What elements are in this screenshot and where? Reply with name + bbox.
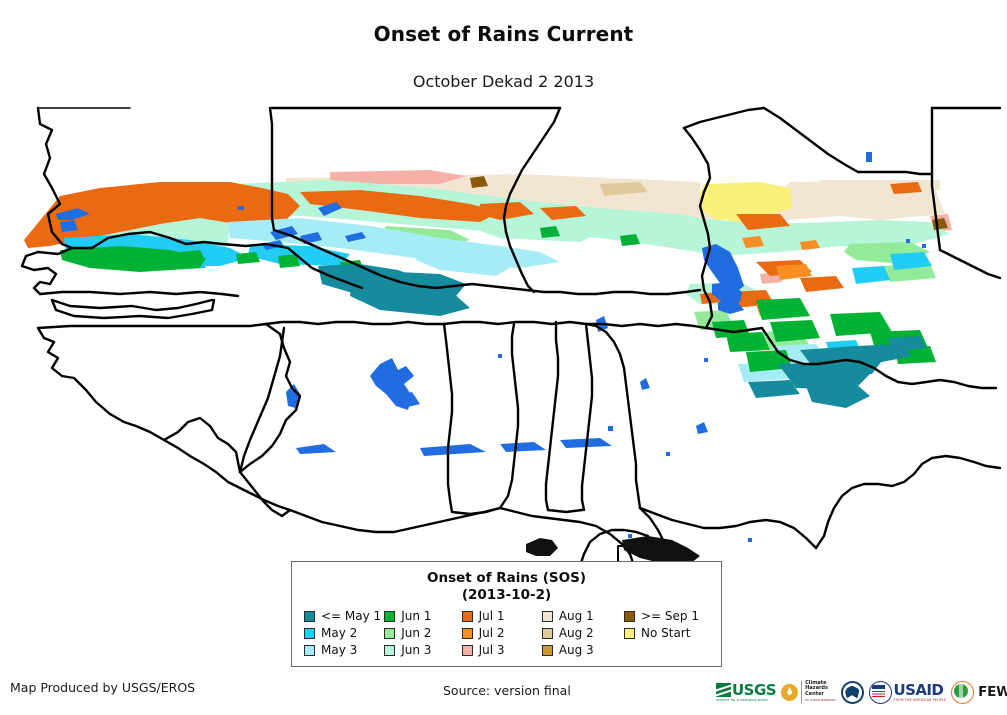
legend-date: (2013-10-2) [302,587,711,604]
noaa-seal-icon [841,681,864,704]
legend-title: Onset of Rains (SOS) [302,570,711,587]
legend-swatch-may2 [304,628,315,639]
legend-item-jun1[interactable]: Jun 1 [384,609,461,624]
legend-item-aug2[interactable]: Aug 2 [542,626,624,641]
legend-item-may3[interactable]: May 3 [304,643,384,658]
usgs-tagline: science for a changing world [716,698,768,702]
legend-item-aug1[interactable]: Aug 1 [542,609,624,624]
legend-swatch-sep1 [624,611,635,622]
legend-label-aug1: Aug 1 [559,610,594,623]
legend-swatch-jul1 [462,611,473,622]
usaid-seal-icon [869,681,892,704]
legend-label-sep1: >= Sep 1 [641,610,699,623]
legend-label-jun2: Jun 2 [401,627,431,640]
legend-label-jul1: Jul 1 [479,610,505,623]
usaid-logo-text: USAID [894,683,947,698]
legend-swatch-aug2 [542,628,553,639]
map-svg [0,96,1007,566]
legend-label-may1: <= May 1 [321,610,381,623]
map-legend: Onset of Rains (SOS) (2013-10-2) <= May … [291,561,722,667]
legend-item-aug3[interactable]: Aug 3 [542,643,624,658]
water-drop-icon [781,684,798,701]
legend-swatch-jun3 [384,645,395,656]
legend-swatch-no-start [624,628,635,639]
legend-label-no-start: No Start [641,627,690,640]
legend-items: <= May 1 May 2 May 3 Jun 1 Ju [302,609,711,658]
legend-column-5: >= Sep 1 No Start [624,609,711,658]
legend-swatch-jun1 [384,611,395,622]
legend-column-1: <= May 1 May 2 May 3 [304,609,384,658]
legend-label-may2: May 2 [321,627,357,640]
usaid-logo: USAID FROM THE AMERICAN PEOPLE [869,681,947,704]
legend-column-4: Aug 1 Aug 2 Aug 3 [542,609,624,658]
chc-logo: Climate Hazards Center UC SANTA BARBARA [781,681,835,703]
legend-item-may2[interactable]: May 2 [304,626,384,641]
fewsnet-logo-text: FEWS NET [978,684,1007,700]
usaid-tagline: FROM THE AMERICAN PEOPLE [894,698,947,702]
usgs-mark-icon [716,683,731,697]
legend-item-jun3[interactable]: Jun 3 [384,643,461,658]
legend-swatch-aug1 [542,611,553,622]
legend-label-jul3: Jul 3 [479,644,505,657]
noaa-logo [841,681,864,704]
legend-swatch-jun2 [384,628,395,639]
legend-label-jun3: Jun 3 [401,644,431,657]
globe-icon [951,681,974,704]
chc-tagline: UC SANTA BARBARA [805,698,835,703]
map-figure [0,96,1007,566]
legend-column-3: Jul 1 Jul 2 Jul 3 [462,609,542,658]
legend-item-no-start[interactable]: No Start [624,626,711,641]
legend-item-jul3[interactable]: Jul 3 [462,643,542,658]
legend-label-may3: May 3 [321,644,357,657]
map-page: Onset of Rains Current October Dekad 2 2… [0,0,1007,715]
legend-item-jul1[interactable]: Jul 1 [462,609,542,624]
legend-item-sep1[interactable]: >= Sep 1 [624,609,711,624]
footer-source: Source: version final [443,683,571,698]
legend-item-jun2[interactable]: Jun 2 [384,626,461,641]
legend-swatch-aug3 [542,645,553,656]
legend-item-may1[interactable]: <= May 1 [304,609,384,624]
legend-column-2: Jun 1 Jun 2 Jun 3 [384,609,461,658]
legend-label-aug3: Aug 3 [559,644,594,657]
legend-swatch-jul2 [462,628,473,639]
legend-item-jul2[interactable]: Jul 2 [462,626,542,641]
page-subtitle: October Dekad 2 2013 [0,72,1007,91]
usgs-logo: USGS science for a changing world [716,683,776,702]
chc-line-3: Center [805,692,835,697]
fewsnet-logo: FEWS NET [951,681,1007,704]
legend-label-jul2: Jul 2 [479,627,505,640]
usgs-logo-text: USGS [732,683,776,698]
raster-layer [24,170,952,408]
footer-credit: Map Produced by USGS/EROS [10,680,195,695]
legend-swatch-may1 [304,611,315,622]
legend-swatch-may3 [304,645,315,656]
footer-logo-bar: USGS science for a changing world Climat… [716,676,1001,708]
legend-label-jun1: Jun 1 [401,610,431,623]
legend-label-aug2: Aug 2 [559,627,594,640]
legend-swatch-jul3 [462,645,473,656]
page-title: Onset of Rains Current [0,22,1007,46]
